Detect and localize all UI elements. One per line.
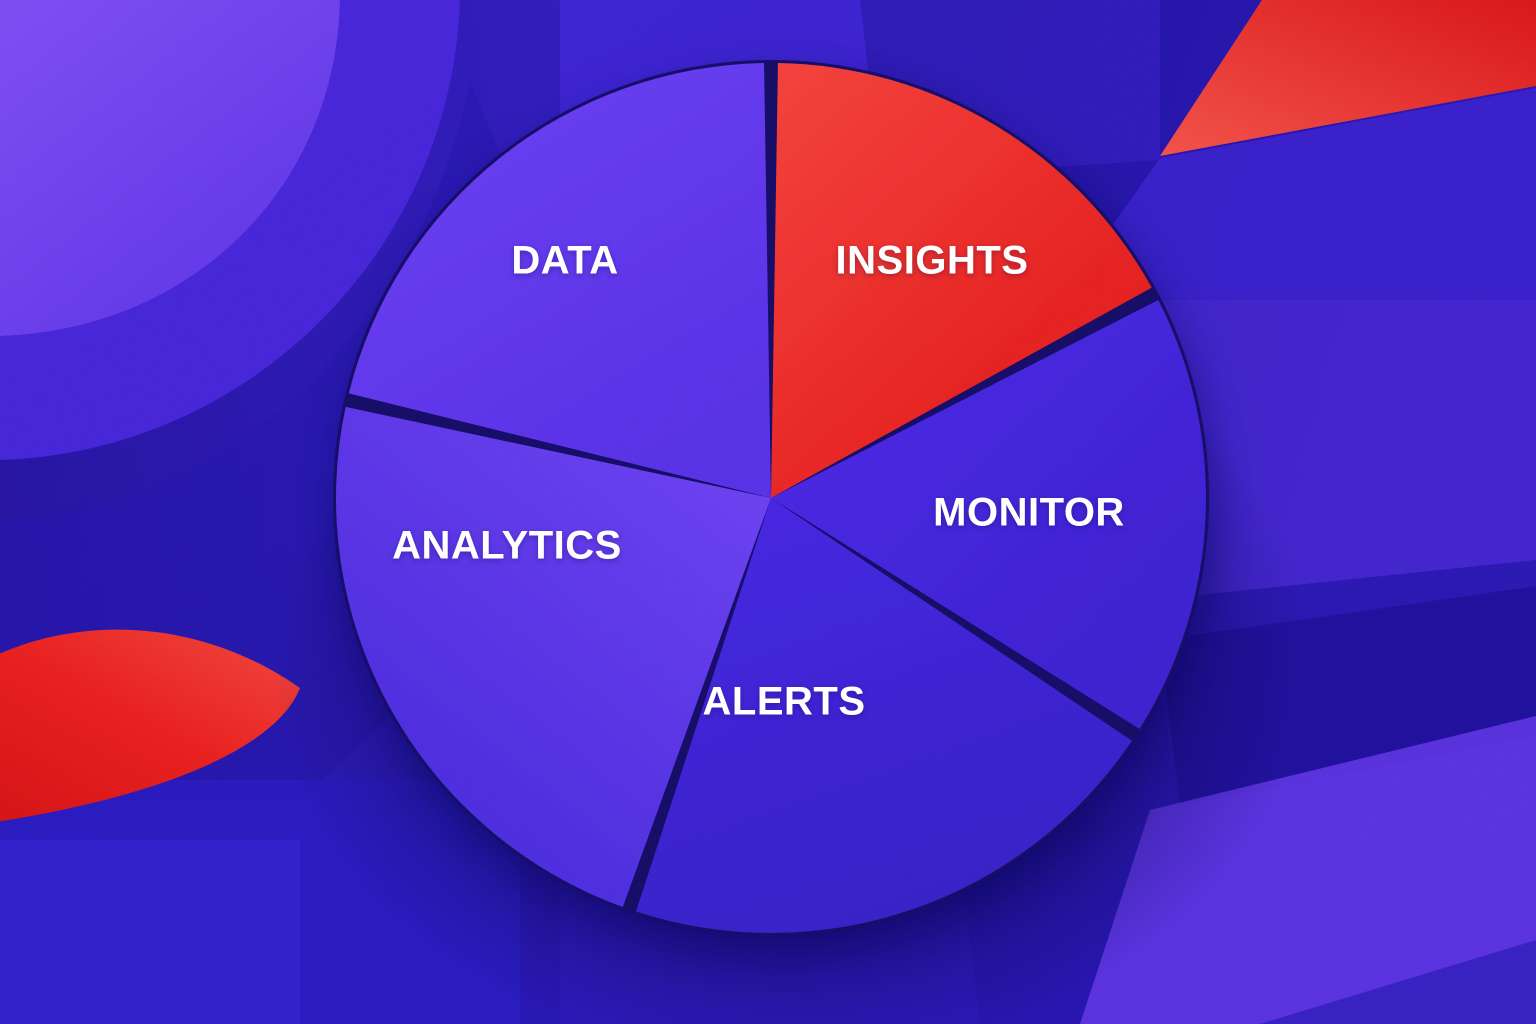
pie-slices-group[interactable] [333, 60, 1209, 936]
poster-canvas: INSIGHTS MONITOR ALERTS ANALYTICS DATA [0, 0, 1536, 1024]
pie-chart[interactable] [0, 0, 1536, 1024]
